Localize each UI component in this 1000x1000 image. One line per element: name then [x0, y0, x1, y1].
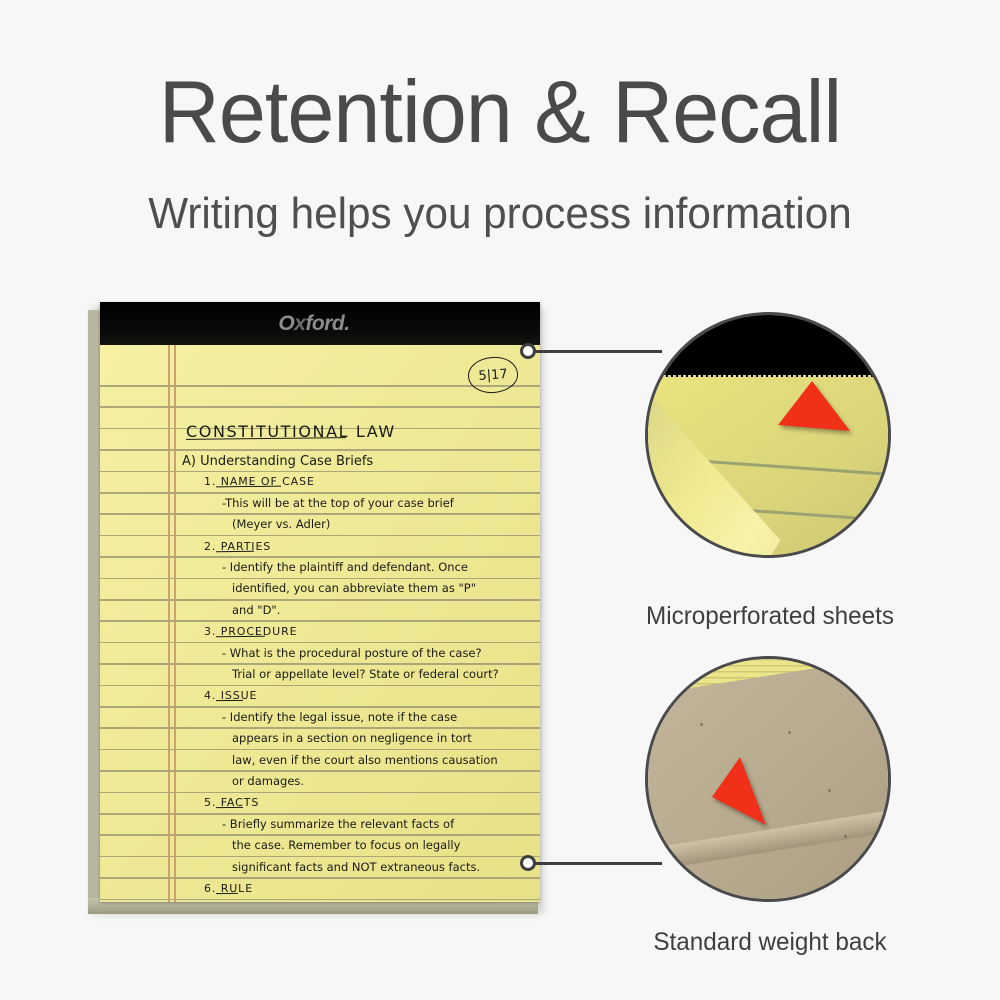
callout-standard-weight-back — [645, 656, 891, 902]
callout-binding-black-area — [645, 312, 891, 381]
callout-caption-standard-weight-back: Standard weight back — [605, 928, 935, 957]
handwritten-line: and "D". — [232, 605, 280, 617]
rule-line — [100, 899, 540, 901]
rule-line — [100, 663, 540, 665]
handwritten-line: 4. ISSUE — [204, 690, 257, 701]
callout-connector-line-bottom — [534, 862, 662, 865]
callout-caption-microperforated: Microperforated sheets — [605, 602, 935, 631]
rule-line — [100, 449, 540, 451]
margin-line-left-inner — [174, 345, 176, 902]
handwritten-line: 3. PROCEDURE — [204, 626, 297, 637]
handwritten-line: Trial or appellate level? State or feder… — [232, 669, 499, 681]
handwritten-line: 6. RULE — [204, 883, 253, 894]
handwritten-line: appears in a section on negligence in to… — [232, 733, 472, 745]
rule-line — [100, 685, 540, 687]
rule-line — [100, 834, 540, 836]
handwritten-underline — [216, 486, 281, 488]
handwritten-line: identified, you can abbreviate them as "… — [232, 583, 476, 595]
handwritten-line: or damages. — [232, 776, 304, 788]
rule-line — [100, 813, 540, 815]
red-triangle-pointer-bottom — [710, 755, 776, 829]
handwritten-date-badge: 5|17 — [467, 355, 519, 394]
handwritten-underline — [216, 807, 243, 809]
handwritten-line: 2. PARTIES — [204, 541, 271, 552]
handwritten-line: significant facts and NOT extraneous fac… — [232, 862, 480, 874]
notepad-product-image: Oxford. 5|17 CONSTITUTIONAL LAWA) Unders… — [88, 302, 543, 914]
handwritten-line: A) Understanding Case Briefs — [182, 455, 373, 468]
chipboard-speck — [788, 731, 791, 734]
rule-line — [100, 706, 540, 708]
rule-line — [100, 406, 540, 408]
handwritten-line: - Identify the legal issue, note if the … — [222, 712, 457, 724]
red-triangle-pointer-top — [776, 379, 852, 435]
rule-line — [100, 535, 540, 537]
handwritten-line: - What is the procedural posture of the … — [222, 648, 482, 660]
notepad-ruled-paper: 5|17 CONSTITUTIONAL LAWA) Understanding … — [100, 345, 540, 902]
rule-line — [100, 792, 540, 794]
rule-line — [100, 856, 540, 858]
handwritten-date-text: 5|17 — [478, 367, 508, 384]
handwritten-line: CONSTITUTIONAL LAW — [186, 424, 396, 440]
handwritten-line: - Briefly summarize the relevant facts o… — [222, 819, 454, 831]
callout-microperforated — [645, 312, 891, 558]
handwritten-underline — [216, 636, 265, 638]
rule-line — [100, 599, 540, 601]
handwritten-line: (Meyer vs. Adler) — [232, 519, 330, 531]
margin-line-left-outer — [168, 345, 170, 902]
rule-line — [100, 620, 540, 622]
handwritten-underline — [216, 550, 254, 552]
notepad-binding-header: Oxford. — [100, 302, 540, 345]
rule-line — [100, 513, 540, 515]
rule-line — [100, 727, 540, 729]
chipboard-speck — [828, 789, 831, 792]
handwritten-line: 1. NAME OF CASE — [204, 476, 315, 487]
rule-line — [100, 556, 540, 558]
handwritten-underline — [186, 437, 346, 440]
handwritten-line: 5. FACTS — [204, 797, 259, 808]
oxford-logo-o: O — [278, 312, 294, 335]
chipboard-speck — [700, 723, 703, 726]
rule-line — [100, 770, 540, 772]
rule-line — [100, 642, 540, 644]
chipboard-speck — [844, 835, 847, 838]
notepad-top-sheet: Oxford. 5|17 CONSTITUTIONAL LAWA) Unders… — [100, 302, 540, 902]
handwritten-underline — [216, 893, 238, 895]
rule-line — [100, 749, 540, 751]
callout-connector-line-top — [534, 350, 662, 353]
page-subheadline: Writing helps you process information — [20, 192, 980, 236]
rule-line — [100, 578, 540, 580]
rule-line — [100, 428, 540, 430]
rule-line — [100, 877, 540, 879]
handwritten-line: - Identify the plaintiff and defendant. … — [222, 562, 468, 574]
handwritten-line: law, even if the court also mentions cau… — [232, 755, 498, 767]
handwritten-underline — [216, 700, 243, 702]
rule-line — [100, 471, 540, 473]
oxford-brand-logo: Oxford. — [278, 312, 349, 336]
oxford-logo-ford: ford. — [305, 312, 349, 335]
handwritten-line: the case. Remember to focus on legally — [232, 840, 460, 852]
rule-line — [100, 492, 540, 494]
oxford-logo-x-icon: x — [294, 312, 305, 336]
page-headline: Retention & Recall — [20, 68, 980, 156]
handwritten-line: -This will be at the top of your case br… — [222, 498, 454, 510]
